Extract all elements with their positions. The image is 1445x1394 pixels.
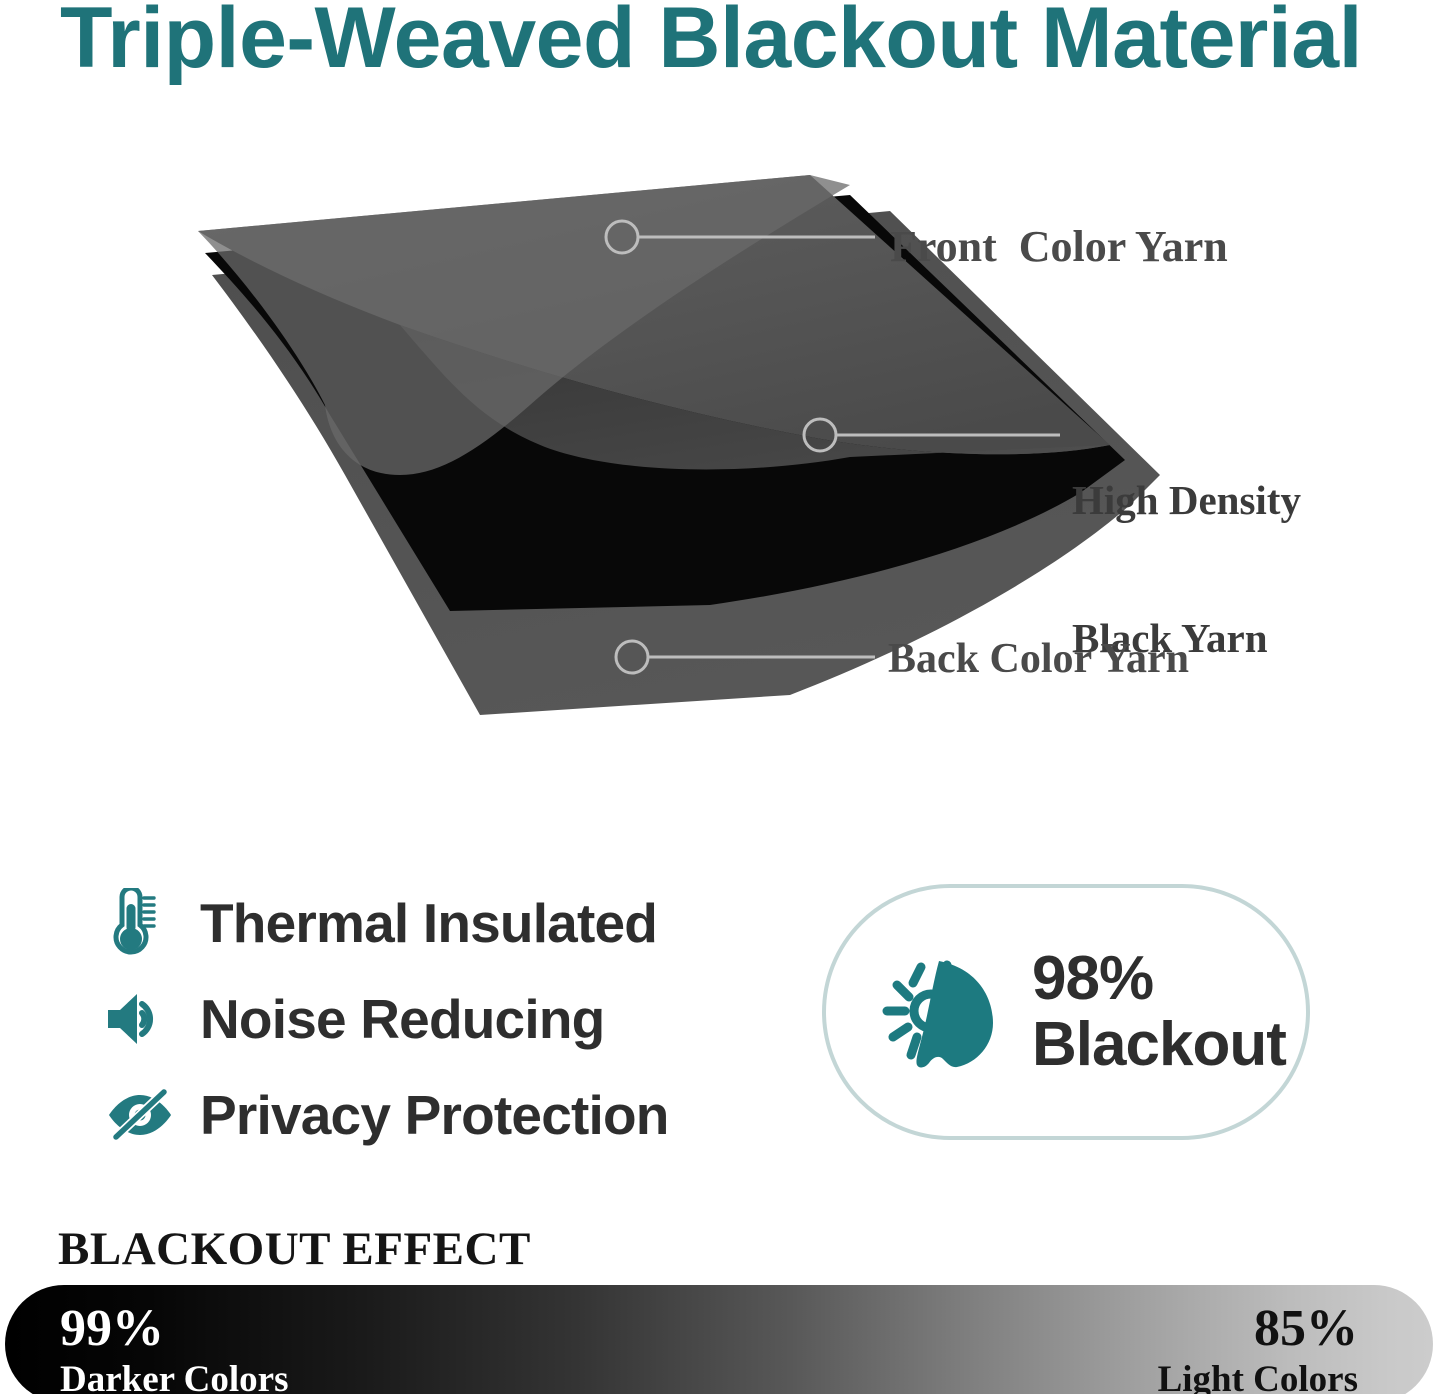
bar-left-caption: Darker Colors (60, 1361, 288, 1394)
bar-right-percent: 85% (1158, 1303, 1358, 1355)
feature-privacy-protection: Privacy Protection (104, 1067, 764, 1163)
bar-left-percent: 99% (60, 1303, 288, 1355)
bar-left-values: 99% Darker Colors (60, 1303, 288, 1394)
callout-label-back-color-yarn: Back Color Yarn (888, 636, 1189, 683)
callout-label-high-density-black-yarn: High Density Black Yarn (1072, 386, 1301, 753)
bar-right-values: 85% Light Colors (1158, 1303, 1358, 1394)
badge-word: Blackout (1032, 1012, 1286, 1078)
layer-front-color-yarn (198, 175, 1110, 475)
badge-percent: 98% (1032, 946, 1286, 1012)
feature-list: Thermal Insulated Noise Reducing (104, 875, 764, 1163)
eye-slash-icon (104, 1078, 178, 1152)
feature-label-noise-reducing: Noise Reducing (200, 987, 604, 1051)
badge-text-block: 98% Blackout (1032, 946, 1286, 1077)
blackout-percentage-badge: 98% Blackout (822, 884, 1310, 1140)
speaker-sound-icon (104, 982, 178, 1056)
feature-label-thermal-insulated: Thermal Insulated (200, 891, 657, 955)
thermometer-icon (104, 886, 178, 960)
page-title: Triple-Weaved Blackout Material (60, 0, 1400, 84)
callout-label-high-density-line1: High Density (1072, 478, 1301, 524)
infographic-page: Triple-Weaved Blackout Material (0, 0, 1445, 1394)
feature-label-privacy-protection: Privacy Protection (200, 1083, 669, 1147)
bar-right-caption: Light Colors (1158, 1361, 1358, 1394)
feature-noise-reducing: Noise Reducing (104, 971, 764, 1067)
blackout-effect-heading: BLACKOUT EFFECT (58, 1222, 531, 1276)
callout-label-front-color-yarn: Front Color Yarn (890, 222, 1228, 271)
sun-blocked-icon (856, 937, 1016, 1087)
blackout-effect-gradient-bar: 99% Darker Colors 85% Light Colors (5, 1285, 1433, 1394)
feature-thermal-insulated: Thermal Insulated (104, 875, 764, 971)
